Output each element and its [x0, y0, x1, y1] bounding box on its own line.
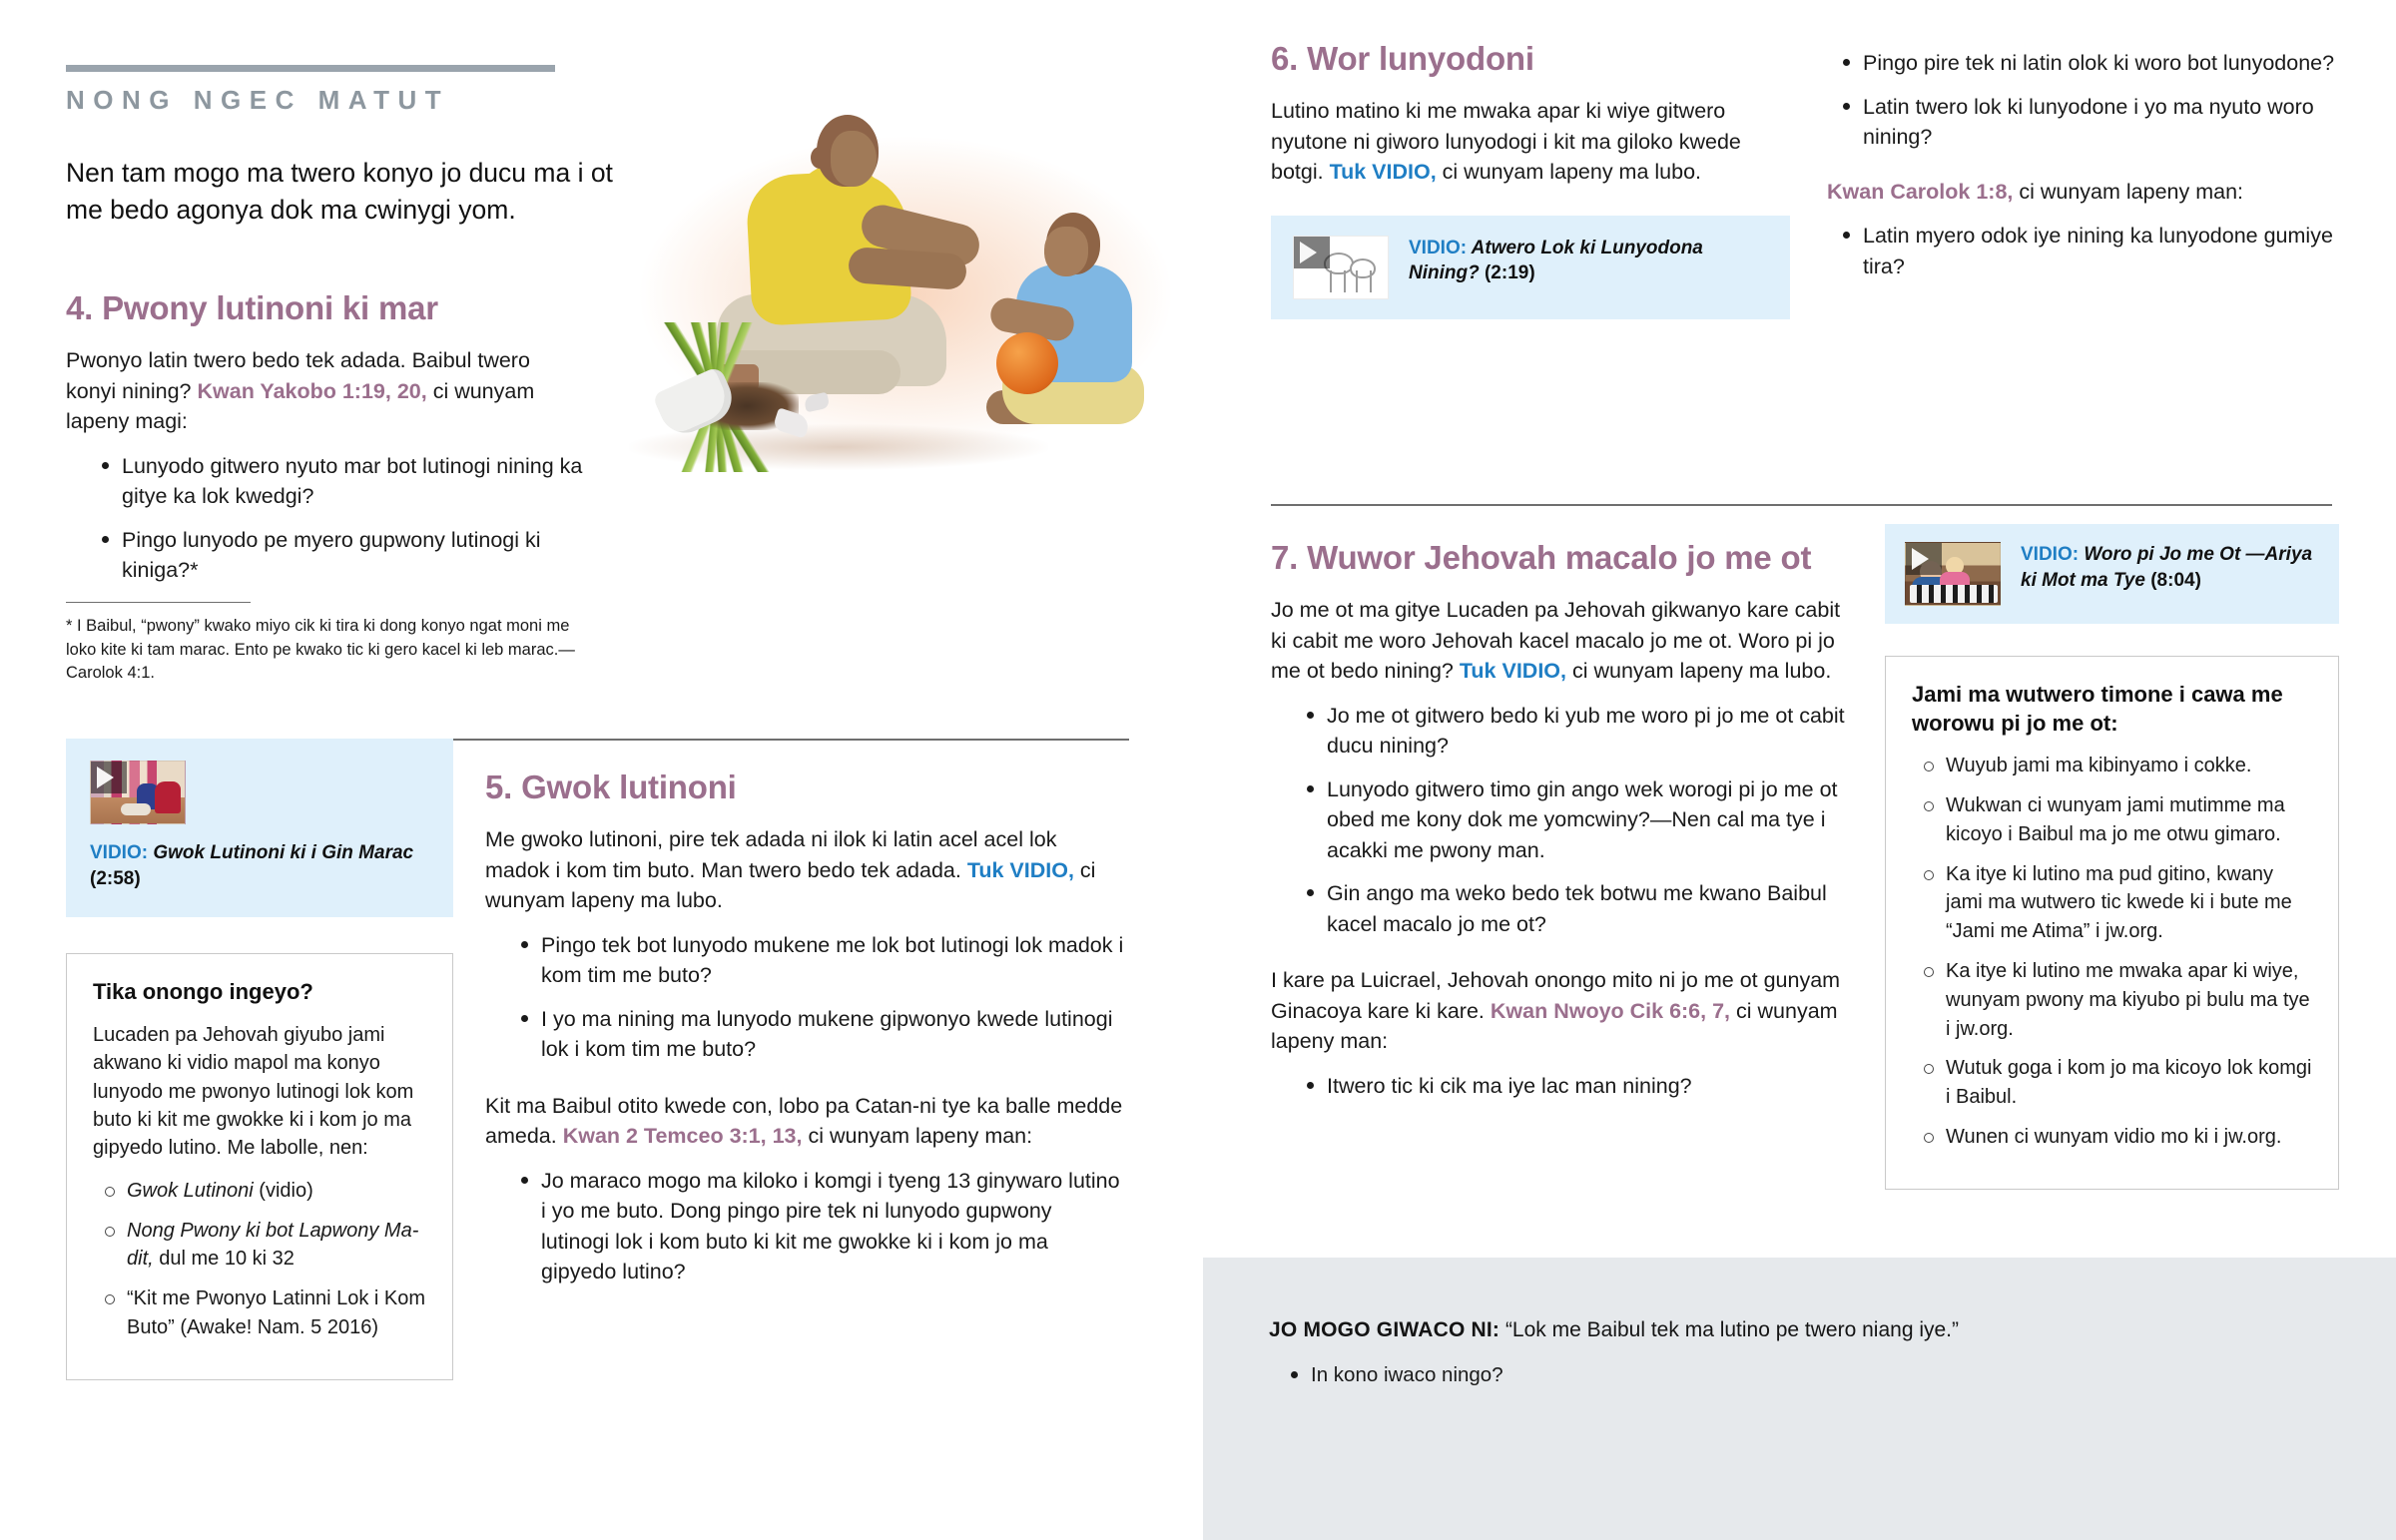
section-6-questions: Pingo pire tek ni latin olok ki woro bot…: [1827, 48, 2336, 294]
list-item: Pingo lunyodo pe myero gupwony lutinogi …: [100, 525, 585, 586]
section-6: 6. Wor lunyodoni Lutino matino ki me mwa…: [1271, 40, 1790, 319]
list-item: Wukwan ci wunyam jami mutimme ma kicoyo …: [1922, 791, 2312, 849]
play-icon[interactable]: [1912, 548, 1929, 570]
video-label: VIDIO:: [1409, 238, 1467, 258]
did-you-know-body: Lucaden pa Jehovah giyubo jami akwano ki…: [93, 1021, 426, 1163]
section-4-paragraph: Pwonyo latin twero bedo tek adada. Baibu…: [66, 345, 585, 437]
video-thumbnail[interactable]: [1293, 236, 1389, 299]
list-item: Wutuk goga i kom jo ma kicoyo lok komgi …: [1922, 1054, 2312, 1112]
section-6-paragraph: Lutino matino ki me mwaka apar ki wiye g…: [1271, 96, 1790, 188]
section-7-sidebar: VIDIO: Woro pi Jo me Ot —Ariya ki Mot ma…: [1885, 524, 2339, 1190]
list-item: Gwok Lutinoni (vidio): [103, 1177, 426, 1206]
video-thumbnail[interactable]: [1905, 542, 2001, 606]
section-4-bullets: Lunyodo gitwero nyuto mar bot lutinogi n…: [66, 451, 585, 586]
list-item: Ka itye ki lutino ma pud gitino, kwany j…: [1922, 860, 2312, 946]
video-label: VIDIO:: [90, 842, 148, 863]
list-item: Latin myero odok iye nining ka lunyodone…: [1841, 221, 2336, 281]
things-to-do-box: Jami ma wutwero timone i cawa me worowu …: [1885, 656, 2339, 1190]
section-6-scripture-rest: ci wunyam lapeny man:: [2013, 180, 2243, 204]
list-item: Jo me ot gitwero bedo ki yub me woro pi …: [1305, 701, 1850, 762]
video-card-gwok-lutinoni[interactable]: VIDIO: Gwok Lutinoni ki i Gin Marac (2:5…: [66, 739, 453, 917]
item-title: Gwok Lutinoni: [127, 1180, 254, 1202]
video-caption: VIDIO: Woro pi Jo me Ot —Ariya ki Mot ma…: [2021, 542, 2319, 593]
section-6-video-link[interactable]: Tuk VIDIO,: [1330, 160, 1437, 184]
section-5-paragraph: Me gwoko lutinoni, pire tek adada ni ilo…: [485, 824, 1124, 916]
section-5-scripture-ref[interactable]: Kwan 2 Temceo 3:1, 13,: [563, 1124, 803, 1148]
header-rule: [66, 65, 555, 72]
video-duration: (8:04): [2150, 570, 2201, 591]
list-item: Pingo pire tek ni latin olok ki woro bot…: [1841, 48, 2336, 79]
section-5-bullets-2: Jo maraco mogo ma kiloko i komgi i tyeng…: [485, 1166, 1124, 1287]
some-people-say-bullets: In kono iwaco ningo?: [1269, 1360, 2396, 1389]
things-to-do-items: Wuyub jami ma kibinyamo i cokke. Wukwan …: [1912, 752, 2312, 1152]
section-5-heading: 5. Gwok lutinoni: [485, 769, 1124, 806]
some-people-say-label: JO MOGO GIWACO NI:: [1269, 1318, 1499, 1341]
section-6-scripture-ref[interactable]: Kwan Carolok 1:8,: [1827, 180, 2013, 204]
list-item: Lunyodo gitwero timo gin ango wek worogi…: [1305, 774, 1850, 866]
video-label: VIDIO:: [2021, 544, 2079, 565]
right-section-divider: [1271, 504, 2332, 506]
kicker-label: NONG NGEC MATUT: [66, 85, 449, 116]
video-caption: VIDIO: Gwok Lutinoni ki i Gin Marac (2:5…: [90, 840, 429, 891]
section-6-scripture-line: Kwan Carolok 1:8, ci wunyam lapeny man:: [1827, 177, 2336, 208]
list-item: Wuyub jami ma kibinyamo i cokke.: [1922, 752, 2312, 780]
family-illustration: [599, 95, 1238, 494]
some-people-say-line: JO MOGO GIWACO NI: “Lok me Baibul tek ma…: [1269, 1315, 2396, 1344]
did-you-know-title: Tika onongo ingeyo?: [93, 978, 426, 1007]
section-6-paragraph-post: ci wunyam lapeny ma lubo.: [1437, 160, 1701, 184]
item-rest: “Kit me Pwonyo Latinni Lok i Kom Buto” (…: [127, 1287, 425, 1338]
video-card-atwero-lok[interactable]: VIDIO: Atwero Lok ki Lunyodona Nining? (…: [1271, 216, 1790, 319]
footnote-rule: [66, 602, 251, 604]
list-item: I yo ma nining ma lunyodo mukene gipwony…: [519, 1004, 1124, 1065]
child-face: [1044, 227, 1088, 276]
did-you-know-items: Gwok Lutinoni (vidio) Nong Pwony ki bot …: [93, 1177, 426, 1342]
list-item: Lunyodo gitwero nyuto mar bot lutinogi n…: [100, 451, 585, 512]
list-item: Itwero tic ki cik ma iye lac man nining?: [1305, 1071, 1850, 1102]
section-7-bullets: Jo me ot gitwero bedo ki yub me woro pi …: [1271, 701, 1850, 940]
video-caption: VIDIO: Atwero Lok ki Lunyodona Nining? (…: [1409, 236, 1768, 286]
list-item: Pingo tek bot lunyodo mukene me lok bot …: [519, 930, 1124, 991]
section-4-heading: 4. Pwony lutinoni ki mar: [66, 289, 585, 327]
section-6-bullets: Pingo pire tek ni latin olok ki woro bot…: [1827, 48, 2336, 153]
section-7-bullets-2: Itwero tic ki cik ma iye lac man nining?: [1271, 1071, 1850, 1102]
section-7-paragraph-post: ci wunyam lapeny ma lubo.: [1566, 659, 1831, 683]
section-7-heading: 7. Wuwor Jehovah macalo jo me ot: [1271, 539, 1850, 577]
section-5-paragraph2-post: ci wunyam lapeny man:: [802, 1124, 1032, 1148]
thumb-game-tiles: [1910, 585, 1998, 603]
section-7: 7. Wuwor Jehovah macalo jo me ot Jo me o…: [1271, 539, 1850, 1114]
video-duration: (2:19): [1485, 262, 1535, 283]
play-icon[interactable]: [1300, 242, 1317, 263]
video-title: Gwok Lutinoni ki i Gin Marac: [153, 842, 413, 863]
list-item: Jo maraco mogo ma kiloko i komgi i tyeng…: [519, 1166, 1124, 1287]
left-lower-column: VIDIO: Gwok Lutinoni ki i Gin Marac (2:5…: [66, 739, 453, 1380]
section-4: 4. Pwony lutinoni ki mar Pwonyo latin tw…: [66, 289, 585, 685]
list-item: Latin twero lok ki lunyodone i yo ma nyu…: [1841, 92, 2336, 153]
section-5-paragraph-2: Kit ma Baibul otito kwede con, lobo pa C…: [485, 1091, 1124, 1152]
section-5-bullets: Pingo tek bot lunyodo mukene me lok bot …: [485, 930, 1124, 1065]
lead-paragraph: Nen tam mogo ma twero konyo jo ducu ma i…: [66, 155, 645, 229]
adult-face: [831, 131, 877, 187]
play-icon[interactable]: [97, 767, 114, 788]
section-4-scripture-ref[interactable]: Kwan Yakobo 1:19, 20,: [197, 379, 426, 403]
section-7-video-link[interactable]: Tuk VIDIO,: [1460, 659, 1566, 683]
section-6-heading: 6. Wor lunyodoni: [1271, 40, 1790, 78]
section-7-paragraph-2: I kare pa Luicrael, Jehovah onongo mito …: [1271, 965, 1850, 1057]
some-people-say-bar: JO MOGO GIWACO NI: “Lok me Baibul tek ma…: [1203, 1258, 2396, 1540]
list-item: Ka itye ki lutino me mwaka apar ki wiye,…: [1922, 957, 2312, 1043]
section-7-paragraph: Jo me ot ma gitye Lucaden pa Jehovah gik…: [1271, 595, 1850, 687]
video-card-woro-pi-jo-me-ot[interactable]: VIDIO: Woro pi Jo me Ot —Ariya ki Mot ma…: [1885, 524, 2339, 624]
section-5: 5. Gwok lutinoni Me gwoko lutinoni, pire…: [485, 769, 1124, 1300]
did-you-know-box: Tika onongo ingeyo? Lucaden pa Jehovah g…: [66, 953, 453, 1380]
ball: [996, 332, 1058, 394]
video-thumbnail[interactable]: [90, 761, 186, 824]
list-item: “Kit me Pwonyo Latinni Lok i Kom Buto” (…: [103, 1284, 426, 1342]
list-item: In kono iwaco ningo?: [1289, 1360, 2396, 1389]
list-item: Gin ango ma weko bedo tek botwu me kwano…: [1305, 878, 1850, 939]
thumb-sketch-body-2: [1356, 270, 1372, 292]
section-7-scripture-ref[interactable]: Kwan Nwoyo Cik 6:6, 7,: [1491, 999, 1730, 1023]
video-duration: (2:58): [90, 868, 141, 889]
section-4-footnote: * I Baibul, “pwony” kwako miyo cik ki ti…: [66, 615, 585, 685]
some-people-say-quote: “Lok me Baibul tek ma lutino pe twero ni…: [1499, 1318, 1959, 1341]
section-5-video-link[interactable]: Tuk VIDIO,: [967, 858, 1074, 882]
things-to-do-title: Jami ma wutwero timone i cawa me worowu …: [1912, 681, 2312, 738]
thumb-sketch-body-1: [1330, 270, 1346, 292]
thumb-figure-3: [121, 803, 151, 815]
thumb-figure-2: [155, 781, 181, 813]
list-item: Wunen ci wunyam vidio mo ki i jw.org.: [1922, 1123, 2312, 1152]
item-rest: (vidio): [254, 1180, 313, 1202]
section-6-bullets-2: Latin myero odok iye nining ka lunyodone…: [1827, 221, 2336, 281]
item-rest: dul me 10 ki 32: [154, 1248, 295, 1270]
list-item: Nong Pwony ki bot Lapwony Ma­dit, dul me…: [103, 1217, 426, 1275]
